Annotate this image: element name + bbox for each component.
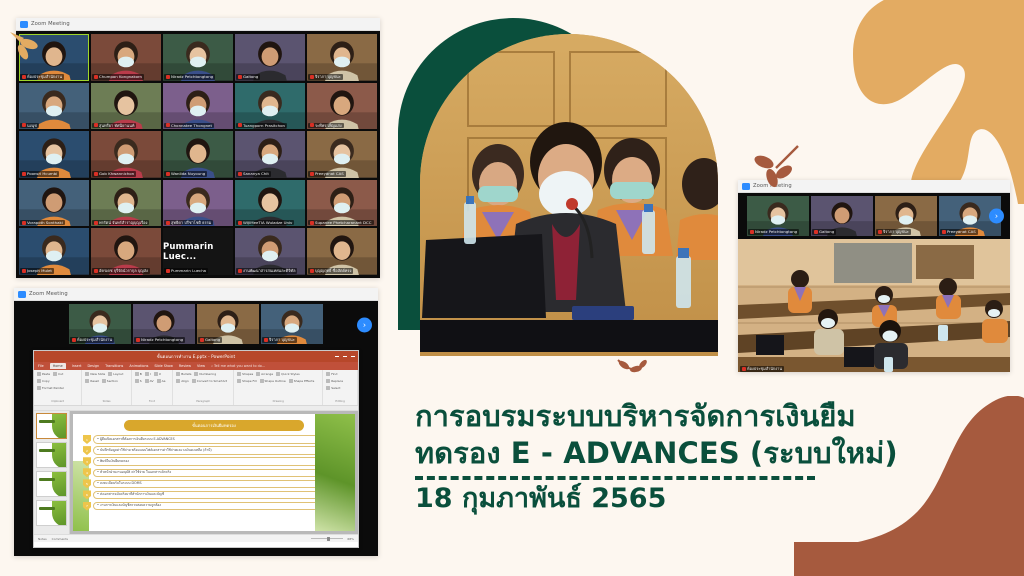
participant-tile[interactable]: ห้องประชุมสำนักงาน (69, 304, 131, 344)
ribbon-button-numbering[interactable]: Numbering (194, 372, 216, 376)
participant-tile[interactable]: จิราภา บุญชนะ (875, 196, 937, 236)
ribbon-button-av[interactable]: AV (145, 379, 154, 383)
current-slide: ขั้นตอนการเงินยืมทดรอง 1• ผู้ยืมเปิดเอกส… (73, 414, 355, 531)
participant-tile[interactable]: จิราภา บุญชนะ (307, 34, 377, 81)
powerpoint-titlebar: ขั้นตอนการทำงาน E.pptx - PowerPoint (34, 351, 358, 362)
title-divider (415, 476, 815, 480)
ribbon-tab-file[interactable]: File (38, 364, 44, 368)
tell-me-search[interactable]: ⌕ Tell me what you want to do... (211, 364, 265, 368)
slide-step: 1• ผู้ยืมเปิดเอกสารที่ต้องการเงินยืมระบบ… (83, 435, 341, 444)
ribbon-button-shapes[interactable]: Shapes (237, 372, 253, 376)
participant-name-label: งานพัฒนาสารสนเทศและดิจิทัล (236, 268, 297, 274)
participant-tile[interactable]: Niradz Petchtongtong (163, 34, 233, 81)
slide-step: 2• บันทึกข้อมูลค่าใช้จ่าย พร้อมแนบไฟล์เอ… (83, 446, 341, 455)
zoom-camera-icon (18, 291, 26, 298)
ribbon-button-paste[interactable]: Paste (37, 372, 50, 376)
slide-step: 5• ลงทะเบียนรับในระบบ DOMS (83, 479, 341, 488)
step-text: • งานการเงินและบัญชีตรวจสอบความถูกต้อง (93, 502, 341, 510)
ribbon-group-editing: FindReplaceSelectEditing (323, 370, 358, 405)
participant-name-label: สุทธิดา ปรีชาโชติ ธรรม (164, 220, 213, 226)
ribbon-tab-view[interactable]: View (197, 364, 205, 368)
participant-name-label: จิราภา บุญชนะ (876, 229, 911, 235)
page-title: การอบรมระบบบริหารจัดการเงินยืม ทดรอง E -… (415, 398, 995, 471)
zoom-window-title: Zoom Meeting (29, 291, 68, 297)
zoom-window-titlebar: Zoom Meeting (16, 18, 380, 31)
participant-filmstrip: ห้องประชุมสำนักงาน Niradz Petchtongtong … (14, 301, 378, 348)
participant-tile[interactable]: งานพัฒนาสารสนเทศและดิจิทัล (235, 228, 305, 275)
participant-name-label: Wanlida Nuyoung (164, 171, 207, 177)
participant-name-label: Niradz Petchtongtong (748, 229, 799, 235)
participant-tile[interactable]: Gaitong (811, 196, 873, 236)
zoom-gallery-screenshot[interactable]: Zoom Meeting ห้องประชุมสำนักงาน Chumpon … (16, 18, 380, 278)
ribbon-tab-home[interactable]: Home (50, 363, 66, 369)
ribbon-button-select[interactable]: Select (326, 386, 340, 390)
participant-name-label: พรรัตน์ จันทร์สำราญบุญเรือง (92, 220, 149, 226)
ribbon-button-quick-styles[interactable]: Quick Styles (276, 372, 300, 376)
zoom-level: 68% (347, 537, 354, 541)
participant-tile[interactable]: Gob Khwannichon (91, 131, 161, 178)
zoom-room-screenshot[interactable]: Zoom Meeting Niradz Petchtongtong Gaiton… (738, 180, 1010, 372)
comments-button[interactable]: Comments (52, 537, 68, 541)
ribbon-group-label: Slides (85, 399, 127, 403)
slide-decoration-right (315, 414, 355, 531)
slide-step: 4• หัวหน้าฝ่ายงานอนุมัติ ค่าใช้จ่าย ในเอ… (83, 468, 341, 477)
participant-tile[interactable]: นงนุช (19, 83, 89, 130)
participant-tile[interactable]: Gaitong (235, 34, 305, 81)
ribbon-button-s[interactable]: S (135, 379, 142, 383)
participant-tile[interactable]: Niradz Petchtongtong (133, 304, 195, 344)
ribbon-tab-slide-show[interactable]: Slide Show (154, 364, 173, 368)
participant-tile[interactable]: สุนทรียา ทัศนียานนท์ (91, 83, 161, 130)
participant-name-label: Poonsri Hcumbi (20, 171, 59, 177)
participant-name-label: Gaitong (812, 229, 836, 235)
participant-name-label: นงนุช (20, 123, 39, 129)
participant-tile[interactable]: Poonsri Hcumbi (19, 131, 89, 178)
step-text: • พิมพ์ใบเงินยืมทดรอง (93, 457, 341, 465)
ribbon-button-section[interactable]: Section (102, 379, 118, 383)
leaf-sprig-icon (6, 28, 46, 68)
participant-name-label: WIJIMeeTIA Wuladze Univ (236, 220, 294, 226)
powerpoint-ribbon-tabs[interactable]: FileHomeInsertDesignTransitionsAnimation… (34, 362, 358, 370)
ribbon-button-replace[interactable]: Replace (326, 379, 343, 383)
participant-tile[interactable]: Vorapoth Sonthaki (19, 180, 89, 227)
title-line-2: ทดรอง E - ADVANCES (ระบบใหม่) (415, 436, 898, 470)
slide-step: 6• ส่งเอกสารฉบับจริงมาที่สำนักการเงินและ… (83, 490, 341, 499)
participant-tile[interactable]: Chonnatee Thongnet (163, 83, 233, 130)
ribbon-tab-insert[interactable]: Insert (72, 364, 82, 368)
zoom-main-video: ห้องประชุมสำนักงาน (738, 239, 1010, 372)
participant-tile[interactable]: Tuangporn Prasitchon (235, 83, 305, 130)
step-text: • ผู้ยืมเปิดเอกสารที่ต้องการเงินยืมระบบ … (93, 435, 341, 443)
participant-name-label: Joseph Mulet (20, 268, 54, 274)
ribbon-group-label: Editing (326, 399, 354, 403)
zoom-main-label: ห้องประชุมสำนักงาน (740, 366, 784, 372)
powerpoint-body: ขั้นตอนการเงินยืมทดรอง 1• ผู้ยืมเปิดเอกส… (34, 411, 358, 534)
window-controls[interactable] (335, 356, 355, 357)
participant-name-label: ห้องประชุมสำนักงาน (20, 74, 64, 80)
screenshare-area: ขั้นตอนการทำงาน E.pptx - PowerPoint File… (14, 348, 378, 556)
participant-name-label: บุญญฤทธิ์ ซื่อสัตย์ทรง (308, 268, 353, 274)
step-text: • ลงทะเบียนรับในระบบ DOMS (93, 480, 341, 488)
powerpoint-status-bar: Notes Comments 68% (34, 534, 358, 542)
orange-blob-decoration (793, 0, 1024, 204)
participant-name-label: Chonnatee Thongnet (164, 123, 214, 129)
slide-thumbnail[interactable] (36, 471, 67, 497)
participant-tile[interactable]: อัครเดช จุรีรัตน์วรากุล บุญส่ง (91, 228, 161, 275)
step-number: 1 (83, 435, 91, 444)
leaf-sprig-icon (750, 140, 806, 194)
ribbon-button-i[interactable]: I (145, 372, 151, 376)
poster-canvas: Zoom Meeting ห้องประชุมสำนักงาน Chumpon … (0, 0, 1024, 576)
participant-filmstrip: Niradz Petchtongtong Gaitong จิราภา บุญช… (738, 193, 1010, 239)
powerpoint-ribbon[interactable]: PasteCutCopyFormat PainterClipboardNew S… (34, 370, 358, 406)
slide-thumbnail[interactable] (36, 442, 67, 468)
step-number: 2 (83, 446, 91, 455)
participant-name-label: จิราภา บุญชนะ (308, 74, 343, 80)
ribbon-group-label: Paragraph (176, 399, 230, 403)
participant-tile[interactable]: Preeyanat CAS (307, 131, 377, 178)
ribbon-button-shape-effects[interactable]: Shape Effects (289, 379, 315, 383)
slide-heading: ขั้นตอนการเงินยืมทดรอง (124, 420, 304, 431)
zoom-powerpoint-screenshot[interactable]: Zoom Meeting ห้องประชุมสำนักงาน Niradz P… (14, 288, 378, 556)
chevron-right-icon[interactable]: › (989, 209, 1004, 224)
slide-thumbnail[interactable] (36, 413, 67, 439)
participant-name-label: Gaitong (198, 337, 222, 343)
zoom-window-title: Zoom Meeting (31, 21, 70, 27)
participant-tile[interactable]: Chumpon Kongnakorn (91, 34, 161, 81)
participant-name-label: Preeyanat CAS (940, 229, 978, 235)
participant-name-label: Sananya Chit (236, 171, 271, 177)
ribbon-group-label: Font (135, 399, 169, 403)
participant-name-label: Niradz Petchtongtong (134, 337, 185, 343)
ribbon-group-paragraph: BulletsNumberingAlignConvert to SmartArt… (173, 370, 234, 405)
slide-canvas[interactable]: ขั้นตอนการเงินยืมทดรอง 1• ผู้ยืมเปิดเอกส… (70, 411, 358, 534)
participant-tile[interactable]: WIJIMeeTIA Wuladze Univ (235, 180, 305, 227)
participant-name-label: Niradz Petchtongtong (164, 74, 215, 80)
participant-tile[interactable]: Niradz Petchtongtong (747, 196, 809, 236)
participant-name-label: Supanee Phetcharanant DCC (308, 220, 374, 226)
participant-name-label: Tuangporn Prasitchon (236, 123, 287, 129)
ribbon-group-slides: New SlideLayoutResetSectionSlides (82, 370, 131, 405)
participant-tile[interactable]: Wanlida Nuyoung (163, 131, 233, 178)
brown-strip-decoration (794, 542, 1024, 576)
step-text: • บันทึกข้อมูลค่าใช้จ่าย พร้อมแนบไฟล์เอก… (93, 446, 341, 454)
poster-headline: การอบรมระบบบริหารจัดการเงินยืม ทดรอง E -… (415, 398, 995, 514)
ribbon-button-align[interactable]: Align (176, 379, 189, 383)
ribbon-tab-animations[interactable]: Animations (129, 364, 148, 368)
participant-name-label: อัครเดช จุรีรัตน์วรากุล บุญส่ง (92, 268, 150, 274)
ribbon-button-aa[interactable]: Aa (157, 379, 166, 383)
participant-name-label: จิราภา บุญชนะ (262, 337, 297, 343)
zoom-video-stage: ห้องประชุมสำนักงาน Chumpon Kongnakorn Ni… (16, 31, 380, 278)
zoom-slider[interactable] (311, 538, 343, 539)
participant-name-label: Preeyanat CAS (308, 171, 346, 177)
ribbon-tab-transitions[interactable]: Transitions (105, 364, 123, 368)
ribbon-button-arrange[interactable]: Arrange (256, 372, 273, 376)
participant-name-label: Gaitong (236, 74, 260, 80)
ribbon-button-new-slide[interactable]: New Slide (85, 372, 105, 376)
participant-tile[interactable]: Sananya Chit (235, 131, 305, 178)
participant-name-label: ห้องประชุมสำนักงาน (70, 337, 114, 343)
zoom-window-titlebar: Zoom Meeting (14, 288, 378, 301)
participant-tile[interactable]: ระพีพร เพ็ญแสง (307, 83, 377, 130)
ribbon-button-convert-to-smartart[interactable]: Convert to SmartArt (192, 379, 227, 383)
participant-name-label: ระพีพร เพ็ญแสง (308, 123, 344, 129)
participant-tile[interactable]: สุทธิดา ปรีชาโชติ ธรรม (163, 180, 233, 227)
participant-name-label: Gob Khwannichon (92, 171, 136, 177)
ribbon-group-label: Clipboard (37, 399, 78, 403)
participant-tile[interactable]: จิราภา บุญชนะ (261, 304, 323, 344)
ribbon-button-format-painter[interactable]: Format Painter (37, 386, 64, 390)
slide-step: 7• งานการเงินและบัญชีตรวจสอบความถูกต้อง (83, 502, 341, 511)
title-line-1: การอบรมระบบบริหารจัดการเงินยืม (415, 399, 856, 433)
participant-name-label: สุนทรียา ทัศนียานนท์ (92, 123, 136, 129)
notes-button[interactable]: Notes (38, 537, 47, 541)
zoom-camera-icon (742, 183, 750, 190)
ribbon-button-bullets[interactable]: Bullets (176, 372, 191, 376)
leaf-sprig-icon (612, 358, 654, 390)
ribbon-group-label: Drawing (237, 399, 319, 403)
participant-tile[interactable]: Supanee Phetcharanant DCC (307, 180, 377, 227)
ribbon-group-clipboard: PasteCutCopyFormat PainterClipboard (34, 370, 82, 405)
powerpoint-window[interactable]: ขั้นตอนการทำงาน E.pptx - PowerPoint File… (33, 350, 359, 548)
ribbon-button-reset[interactable]: Reset (85, 379, 98, 383)
participant-tile[interactable]: Gaitong (197, 304, 259, 344)
participant-name-label: Vorapoth Sonthaki (20, 220, 65, 226)
ribbon-group-drawing: ShapesArrangeQuick StylesShape FillShape… (234, 370, 323, 405)
ribbon-button-u[interactable]: U (154, 372, 161, 376)
slide-step-list: 1• ผู้ยืมเปิดเอกสารที่ต้องการเงินยืมระบบ… (73, 435, 355, 511)
slide-step: 3• พิมพ์ใบเงินยืมทดรอง (83, 457, 341, 466)
zoom-camera-icon (20, 21, 28, 28)
ribbon-button-b[interactable]: B (135, 372, 142, 376)
participant-name-label: Chumpon Kongnakorn (92, 74, 144, 80)
participant-tile[interactable]: Pummarin Luec...Pummarin Luecha (163, 228, 233, 275)
ribbon-tab-design[interactable]: Design (87, 364, 99, 368)
ribbon-tab-review[interactable]: Review (179, 364, 191, 368)
participant-tile-grid: ห้องประชุมสำนักงาน Chumpon Kongnakorn Ni… (16, 31, 380, 278)
slide-thumbnail-pane[interactable] (34, 411, 70, 534)
ribbon-button-copy[interactable]: Copy (37, 379, 50, 383)
step-text: • ส่งเอกสารฉบับจริงมาที่สำนักการเงินและบ… (93, 491, 341, 499)
ribbon-button-shape-fill[interactable]: Shape Fill (237, 379, 256, 383)
ribbon-button-shape-outline[interactable]: Shape Outline (260, 379, 286, 383)
participant-name-label: Pummarin Luecha (164, 268, 208, 274)
ribbon-button-find[interactable]: Find (326, 372, 337, 376)
slide-thumbnail[interactable] (36, 500, 67, 526)
ribbon-button-cut[interactable]: Cut (53, 372, 63, 376)
event-date: 18 กุมภาพันธ์ 2565 (415, 484, 995, 514)
step-text: • หัวหน้าฝ่ายงานอนุมัติ ค่าใช้จ่าย ในเอก… (93, 469, 341, 477)
participant-tile[interactable]: บุญญฤทธิ์ ซื่อสัตย์ทรง (307, 228, 377, 275)
ribbon-button-layout[interactable]: Layout (108, 372, 123, 376)
participant-tile[interactable]: Joseph Mulet (19, 228, 89, 275)
chevron-right-icon[interactable]: › (357, 317, 372, 332)
speaker-photo (420, 34, 718, 356)
powerpoint-document-title: ขั้นตอนการทำงาน E.pptx - PowerPoint (157, 353, 236, 360)
ribbon-group-font: BIUSAVAaFont (132, 370, 173, 405)
participant-tile[interactable]: พรรัตน์ จันทร์สำราญบุญเรือง (91, 180, 161, 227)
